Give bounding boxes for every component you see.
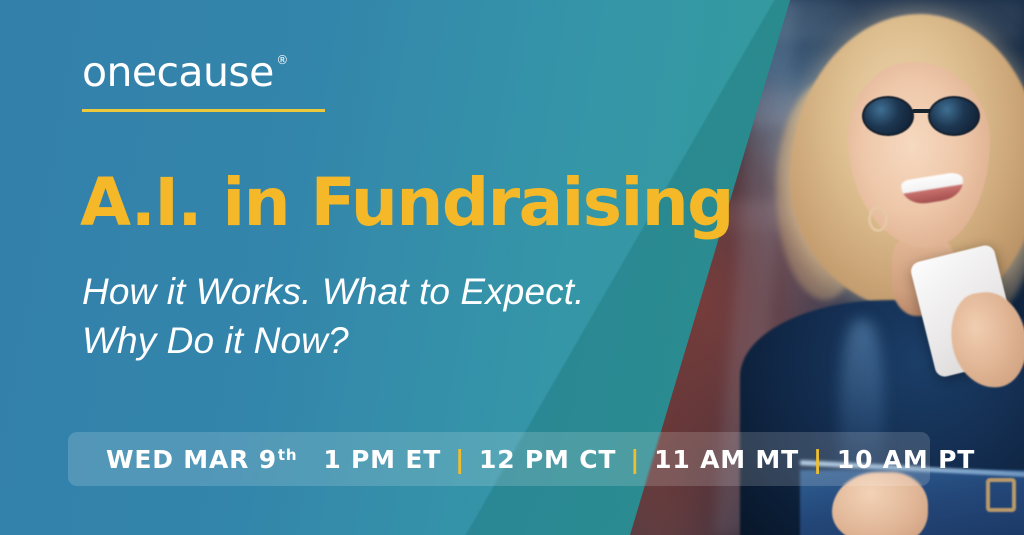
subtitle-line-1: How it Works. What to Expect.: [82, 268, 585, 317]
date-chunk: WED MAR 9 th: [106, 445, 297, 474]
date-number: 9: [259, 445, 277, 474]
separator-2: |: [630, 445, 640, 474]
page-title: A.I. in Fundraising: [80, 170, 733, 236]
date-time-bar: WED MAR 9 th 1 PM ET | 12 PM CT | 11 AM …: [68, 432, 930, 486]
logo-text: onecause: [82, 48, 274, 96]
registered-trademark-icon: ®: [276, 54, 287, 66]
webinar-promo-banner: onecause ® A.I. in Fundraising How it Wo…: [0, 0, 1024, 535]
logo-underline-rule: [82, 109, 325, 112]
brand-logo[interactable]: onecause ®: [82, 52, 342, 112]
separator-3: |: [813, 445, 823, 474]
sunglasses-icon: [862, 96, 988, 136]
timezone-mt: 11 AM MT: [654, 445, 799, 474]
timezone-ct: 12 PM CT: [479, 445, 616, 474]
date-time-text: WED MAR 9 th 1 PM ET | 12 PM CT | 11 AM …: [106, 445, 975, 474]
date-ordinal: th: [278, 446, 297, 464]
subtitle: How it Works. What to Expect. Why Do it …: [82, 268, 585, 366]
belt-buckle: [986, 478, 1016, 512]
logo-wordmark: onecause ®: [82, 52, 274, 93]
subtitle-line-2: Why Do it Now?: [82, 317, 585, 366]
date-day-month: WED MAR: [106, 445, 249, 474]
hoop-earring: [868, 206, 888, 232]
timezone-et: 1 PM ET: [323, 445, 441, 474]
sunglasses-lens-left: [862, 96, 914, 136]
sunglasses-lens-right: [928, 96, 980, 136]
separator-1: |: [455, 445, 465, 474]
timezone-pt: 10 AM PT: [837, 445, 975, 474]
